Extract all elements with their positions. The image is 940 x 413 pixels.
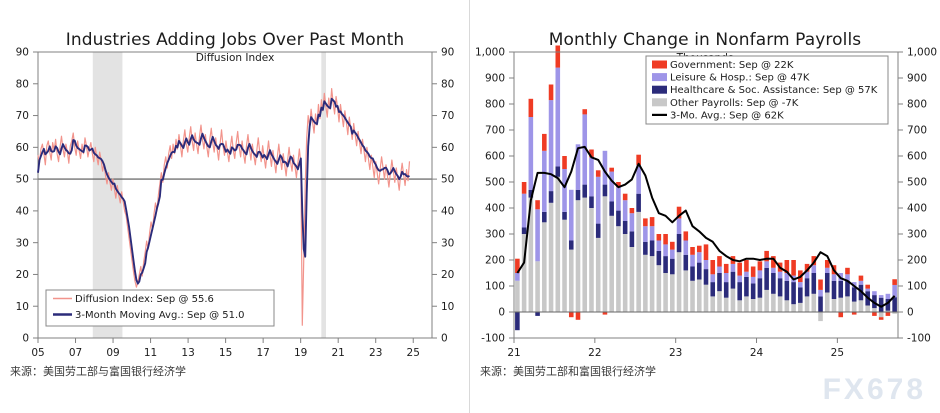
bar-segment-leisure bbox=[670, 250, 675, 259]
bar-segment-healthcare bbox=[623, 221, 628, 234]
bar-segment-leisure bbox=[596, 177, 601, 224]
bar-segment-government bbox=[650, 217, 655, 226]
left-source-note: 来源：美国劳工部与富国银行经济学 bbox=[10, 363, 186, 379]
bar-segment-other bbox=[596, 238, 601, 312]
left-chart-plot: 0010102020303040405050606070708080909005… bbox=[0, 38, 470, 368]
bar-segment-healthcare bbox=[724, 282, 729, 298]
svg-text:500: 500 bbox=[907, 177, 927, 189]
bar-segment-other bbox=[751, 299, 756, 312]
bar-segment-healthcare bbox=[832, 281, 837, 299]
bar-segment-other bbox=[879, 312, 884, 317]
bar-segment-leisure bbox=[778, 272, 783, 279]
bar-segment-leisure bbox=[892, 285, 897, 297]
bar-segment-other bbox=[616, 226, 621, 312]
bar-segment-healthcare bbox=[603, 185, 608, 197]
bar-segment-leisure bbox=[704, 260, 709, 269]
svg-text:25: 25 bbox=[407, 347, 420, 359]
svg-text:700: 700 bbox=[485, 125, 505, 137]
bar-segment-government bbox=[724, 264, 729, 273]
bar-segment-government bbox=[744, 260, 749, 272]
watermark: FX678 bbox=[823, 373, 926, 407]
bar-segment-healthcare bbox=[710, 282, 715, 296]
bar-segment-healthcare bbox=[690, 267, 695, 281]
bar-segment-other bbox=[589, 208, 594, 312]
bar-segment-other bbox=[737, 300, 742, 312]
svg-text:200: 200 bbox=[485, 255, 505, 267]
bar-segment-government bbox=[596, 170, 601, 177]
svg-text:Healthcare & Soc. Assistance:: Healthcare & Soc. Assistance: Sep @ 57K bbox=[670, 85, 878, 96]
bar-segment-leisure bbox=[832, 274, 837, 281]
bar-segment-other bbox=[535, 261, 540, 312]
bar-segment-government bbox=[549, 85, 554, 101]
bar-segment-government bbox=[845, 268, 850, 275]
bar-segment-government bbox=[663, 234, 668, 244]
svg-text:100: 100 bbox=[485, 281, 505, 293]
svg-text:19: 19 bbox=[294, 347, 307, 359]
bar-segment-leisure bbox=[616, 187, 621, 210]
bar-segment-government bbox=[886, 312, 891, 316]
bar-segment-government bbox=[562, 156, 567, 169]
bar-segment-government bbox=[791, 260, 796, 276]
bar-segment-leisure bbox=[744, 272, 749, 277]
bar-segment-government bbox=[630, 208, 635, 213]
bar-segment-leisure bbox=[825, 268, 830, 273]
svg-text:20: 20 bbox=[441, 269, 454, 281]
svg-text:900: 900 bbox=[485, 73, 505, 85]
bar-segment-government bbox=[717, 256, 722, 266]
bar-segment-government bbox=[569, 312, 574, 317]
svg-text:15: 15 bbox=[219, 347, 232, 359]
bar-segment-government bbox=[609, 168, 614, 172]
bar-segment-government bbox=[535, 200, 540, 209]
svg-text:900: 900 bbox=[907, 73, 927, 85]
svg-text:24: 24 bbox=[750, 347, 764, 359]
bar-segment-other bbox=[838, 298, 843, 312]
bar-segment-leisure bbox=[542, 151, 547, 212]
bar-segment-healthcare bbox=[697, 263, 702, 280]
bar-segment-other bbox=[859, 300, 864, 312]
bar-segment-other bbox=[515, 281, 520, 312]
bar-segment-government bbox=[623, 194, 628, 201]
bar-segment-other bbox=[630, 247, 635, 312]
bar-segment-healthcare bbox=[630, 231, 635, 247]
bar-segment-healthcare bbox=[596, 224, 601, 238]
bar-segment-government bbox=[522, 182, 527, 194]
svg-text:20: 20 bbox=[16, 269, 29, 281]
bar-segment-leisure bbox=[731, 264, 736, 272]
svg-text:800: 800 bbox=[907, 99, 927, 111]
bar-segment-leisure bbox=[697, 252, 702, 262]
bar-segment-leisure bbox=[650, 226, 655, 240]
bar-segment-healthcare bbox=[582, 185, 587, 198]
bar-segment-government bbox=[683, 231, 688, 240]
bar-segment-government bbox=[582, 109, 587, 114]
svg-text:600: 600 bbox=[485, 151, 505, 163]
bar-segment-other bbox=[744, 296, 749, 312]
svg-text:40: 40 bbox=[16, 205, 29, 217]
bar-segment-healthcare bbox=[717, 273, 722, 291]
bar-segment-government bbox=[872, 312, 877, 316]
bar-segment-other bbox=[690, 281, 695, 312]
bar-segment-other bbox=[872, 308, 877, 312]
svg-text:1,000: 1,000 bbox=[475, 47, 505, 59]
bar-segment-leisure bbox=[535, 209, 540, 261]
bar-segment-government bbox=[657, 234, 662, 241]
bar-segment-healthcare bbox=[818, 296, 823, 312]
bar-segment-healthcare bbox=[852, 287, 857, 301]
bar-segment-leisure bbox=[758, 270, 763, 278]
svg-text:Diffusion Index: Sep @ 55.6: Diffusion Index: Sep @ 55.6 bbox=[75, 294, 214, 305]
bar-segment-leisure bbox=[886, 294, 891, 299]
bar-segment-healthcare bbox=[677, 234, 682, 252]
bar-segment-leisure bbox=[522, 194, 527, 228]
bar-segment-leisure bbox=[690, 255, 695, 267]
bar-segment-government bbox=[704, 244, 709, 260]
bar-segment-other bbox=[731, 289, 736, 312]
svg-text:200: 200 bbox=[907, 255, 927, 267]
bar-segment-healthcare bbox=[542, 212, 547, 222]
bar-segment-leisure bbox=[657, 241, 662, 251]
bar-segment-healthcare bbox=[576, 190, 581, 200]
bar-segment-other bbox=[825, 293, 830, 313]
bar-segment-healthcare bbox=[811, 273, 816, 294]
bar-segment-other bbox=[697, 280, 702, 313]
bar-segment-leisure bbox=[643, 226, 648, 242]
svg-text:90: 90 bbox=[16, 47, 29, 59]
bar-segment-healthcare bbox=[791, 282, 796, 304]
svg-text:25: 25 bbox=[831, 347, 844, 359]
svg-text:-100: -100 bbox=[907, 333, 931, 345]
bar-segment-other bbox=[798, 303, 803, 312]
bar-segment-healthcare bbox=[778, 278, 783, 296]
svg-text:07: 07 bbox=[69, 347, 82, 359]
svg-text:800: 800 bbox=[485, 99, 505, 111]
bar-segment-other bbox=[805, 296, 810, 312]
bar-segment-other bbox=[542, 222, 547, 312]
svg-text:50: 50 bbox=[441, 174, 454, 186]
bar-segment-healthcare bbox=[616, 211, 621, 227]
svg-text:400: 400 bbox=[485, 203, 505, 215]
bar-segment-government bbox=[865, 285, 870, 289]
bar-segment-leisure bbox=[589, 157, 594, 196]
bar-segment-other bbox=[865, 306, 870, 313]
bar-segment-leisure bbox=[609, 172, 614, 202]
svg-text:21: 21 bbox=[332, 347, 345, 359]
dual-chart-figure: Industries Adding Jobs Over Past Month D… bbox=[0, 0, 940, 413]
bar-segment-other bbox=[670, 274, 675, 312]
svg-text:80: 80 bbox=[16, 78, 29, 90]
bar-segment-healthcare bbox=[892, 297, 897, 312]
bar-segment-other bbox=[785, 300, 790, 312]
bar-segment-healthcare bbox=[683, 255, 688, 271]
bar-segment-government bbox=[697, 246, 702, 253]
svg-text:10: 10 bbox=[441, 301, 454, 313]
svg-text:13: 13 bbox=[181, 347, 194, 359]
bar-segment-leisure bbox=[771, 268, 776, 273]
bar-segment-other bbox=[771, 294, 776, 312]
svg-text:300: 300 bbox=[907, 229, 927, 241]
bar-segment-leisure bbox=[549, 100, 554, 191]
bar-segment-leisure bbox=[677, 218, 682, 234]
bar-segment-leisure bbox=[798, 282, 803, 287]
bar-segment-other bbox=[683, 270, 688, 312]
bar-segment-other bbox=[791, 304, 796, 312]
bar-segment-other bbox=[710, 296, 715, 312]
svg-text:30: 30 bbox=[16, 237, 29, 249]
bar-segment-other bbox=[778, 296, 783, 312]
bar-segment-healthcare bbox=[657, 251, 662, 265]
bar-segment-healthcare bbox=[643, 242, 648, 255]
svg-text:0: 0 bbox=[22, 333, 29, 345]
bar-segment-government bbox=[838, 312, 843, 317]
bar-segment-leisure bbox=[569, 190, 574, 241]
svg-text:70: 70 bbox=[441, 110, 454, 122]
svg-text:3-Mo. Avg.: Sep @ 62K: 3-Mo. Avg.: Sep @ 62K bbox=[670, 110, 784, 121]
svg-text:0: 0 bbox=[498, 307, 505, 319]
bar-segment-healthcare bbox=[589, 196, 594, 208]
svg-text:21: 21 bbox=[507, 347, 520, 359]
svg-text:70: 70 bbox=[16, 110, 29, 122]
svg-text:-100: -100 bbox=[481, 333, 505, 345]
bar-segment-other bbox=[832, 299, 837, 312]
bar-segment-leisure bbox=[859, 281, 864, 285]
bar-segment-leisure bbox=[818, 290, 823, 297]
left-chart-panel: Industries Adding Jobs Over Past Month D… bbox=[0, 0, 470, 413]
svg-text:60: 60 bbox=[16, 142, 29, 154]
bar-segment-government bbox=[555, 46, 560, 68]
bar-segment-government bbox=[859, 276, 864, 281]
bar-segment-leisure bbox=[630, 213, 635, 231]
bar-segment-other bbox=[811, 294, 816, 312]
bar-segment-healthcare bbox=[751, 283, 756, 299]
bar-segment-healthcare bbox=[515, 312, 520, 330]
bar-segment-other bbox=[845, 296, 850, 312]
bar-segment-healthcare bbox=[569, 241, 574, 250]
bar-segment-government bbox=[818, 280, 823, 290]
bar-segment-government bbox=[710, 260, 715, 274]
svg-text:17: 17 bbox=[256, 347, 269, 359]
bar-segment-government bbox=[670, 242, 675, 250]
bar-segment-healthcare bbox=[798, 287, 803, 303]
bar-segment-leisure bbox=[555, 68, 560, 167]
bar-segment-healthcare bbox=[636, 194, 641, 212]
svg-text:30: 30 bbox=[441, 237, 454, 249]
svg-text:05: 05 bbox=[31, 347, 44, 359]
bar-segment-other bbox=[704, 285, 709, 312]
bar-segment-healthcare bbox=[650, 241, 655, 257]
bar-segment-other bbox=[657, 265, 662, 312]
bar-segment-government bbox=[737, 263, 742, 276]
bar-segment-healthcare bbox=[764, 268, 769, 290]
svg-text:400: 400 bbox=[907, 203, 927, 215]
bar-segment-leisure bbox=[710, 274, 715, 282]
bar-segment-other bbox=[758, 298, 763, 312]
bar-segment-other bbox=[636, 212, 641, 312]
svg-text:100: 100 bbox=[907, 281, 927, 293]
bar-segment-other bbox=[818, 312, 823, 321]
bar-segment-other bbox=[764, 290, 769, 312]
bar-segment-other bbox=[650, 256, 655, 312]
bar-segment-leisure bbox=[529, 117, 534, 190]
bar-segment-government bbox=[751, 267, 756, 277]
right-chart-plot: -100-10000100100200200300300400400500500… bbox=[470, 38, 940, 368]
bar-segment-healthcare bbox=[522, 228, 527, 235]
bar-segment-other bbox=[677, 252, 682, 312]
bar-segment-other bbox=[609, 216, 614, 312]
svg-text:23: 23 bbox=[669, 347, 682, 359]
bar-segment-leisure bbox=[562, 169, 567, 212]
svg-text:Government: Sep @ 22K: Government: Sep @ 22K bbox=[670, 60, 794, 71]
svg-text:0: 0 bbox=[907, 307, 914, 319]
svg-text:23: 23 bbox=[369, 347, 382, 359]
bar-segment-other bbox=[582, 198, 587, 312]
bar-segment-government bbox=[892, 279, 897, 285]
bar-segment-other bbox=[623, 234, 628, 312]
bar-segment-healthcare bbox=[731, 272, 736, 289]
svg-text:10: 10 bbox=[16, 301, 29, 313]
svg-text:600: 600 bbox=[907, 151, 927, 163]
svg-text:500: 500 bbox=[485, 177, 505, 189]
svg-text:11: 11 bbox=[144, 347, 157, 359]
bar-segment-other bbox=[717, 291, 722, 312]
bar-segment-healthcare bbox=[785, 281, 790, 301]
bar-segment-leisure bbox=[751, 277, 756, 284]
right-source-note: 来源：美国劳工部和富国银行经济学 bbox=[480, 363, 656, 379]
bar-segment-healthcare bbox=[549, 191, 554, 203]
svg-text:50: 50 bbox=[16, 174, 29, 186]
bar-segment-government bbox=[529, 99, 534, 117]
bar-segment-healthcare bbox=[562, 212, 567, 220]
bar-segment-healthcare bbox=[609, 202, 614, 216]
bar-segment-healthcare bbox=[535, 312, 540, 316]
svg-text:1,000: 1,000 bbox=[907, 47, 937, 59]
bar-segment-other bbox=[555, 177, 560, 312]
bar-segment-government bbox=[542, 134, 547, 151]
bar-segment-government bbox=[576, 312, 581, 320]
bar-segment-other bbox=[569, 250, 574, 312]
bar-segment-healthcare bbox=[825, 273, 830, 293]
bar-segment-other bbox=[852, 302, 857, 312]
svg-text:3-Month Moving Avg.: Sep @ 51.: 3-Month Moving Avg.: Sep @ 51.0 bbox=[75, 310, 245, 321]
svg-text:22: 22 bbox=[588, 347, 601, 359]
bar-segment-other bbox=[576, 200, 581, 312]
bar-segment-leisure bbox=[515, 273, 520, 281]
svg-text:90: 90 bbox=[441, 47, 454, 59]
svg-text:300: 300 bbox=[485, 229, 505, 241]
bar-segment-healthcare bbox=[771, 273, 776, 294]
bar-segment-leisure bbox=[717, 267, 722, 274]
svg-text:40: 40 bbox=[441, 205, 454, 217]
svg-text:700: 700 bbox=[907, 125, 927, 137]
bar-segment-healthcare bbox=[663, 256, 668, 273]
bar-segment-healthcare bbox=[704, 269, 709, 285]
right-chart-panel: Monthly Change in Nonfarm Payrolls Thous… bbox=[470, 0, 940, 413]
bar-segment-leisure bbox=[737, 276, 742, 283]
bar-segment-other bbox=[643, 255, 648, 312]
bar-segment-leisure bbox=[724, 273, 729, 282]
svg-text:Other Payrolls: Sep @ -7K: Other Payrolls: Sep @ -7K bbox=[670, 98, 799, 109]
bar-segment-government bbox=[643, 218, 648, 226]
bar-segment-healthcare bbox=[744, 277, 749, 297]
svg-text:Leisure & Hosp.: Sep @ 47K: Leisure & Hosp.: Sep @ 47K bbox=[670, 73, 810, 84]
svg-text:09: 09 bbox=[106, 347, 119, 359]
bar-segment-healthcare bbox=[670, 259, 675, 275]
svg-text:80: 80 bbox=[441, 78, 454, 90]
bar-segment-government bbox=[690, 247, 695, 255]
bar-segment-other bbox=[562, 220, 567, 312]
bar-segment-leisure bbox=[663, 244, 668, 256]
bar-segment-leisure bbox=[623, 200, 628, 221]
bar-segment-other bbox=[603, 196, 608, 312]
bar-segment-healthcare bbox=[838, 281, 843, 298]
bar-segment-government bbox=[758, 261, 763, 270]
bar-segment-healthcare bbox=[805, 278, 810, 296]
bar-segment-healthcare bbox=[758, 278, 763, 298]
bar-segment-healthcare bbox=[555, 166, 560, 176]
svg-text:0: 0 bbox=[441, 333, 448, 345]
bar-segment-other bbox=[663, 273, 668, 312]
bar-segment-leisure bbox=[865, 289, 870, 292]
bar-segment-leisure bbox=[683, 241, 688, 255]
bar-segment-government bbox=[879, 317, 884, 320]
bar-segment-leisure bbox=[879, 295, 884, 298]
svg-text:60: 60 bbox=[441, 142, 454, 154]
bar-segment-other bbox=[549, 203, 554, 312]
bar-segment-leisure bbox=[872, 291, 877, 295]
bar-segment-other bbox=[724, 298, 729, 312]
bar-segment-healthcare bbox=[737, 282, 742, 300]
bar-segment-leisure bbox=[764, 261, 769, 268]
bar-segment-leisure bbox=[811, 265, 816, 273]
